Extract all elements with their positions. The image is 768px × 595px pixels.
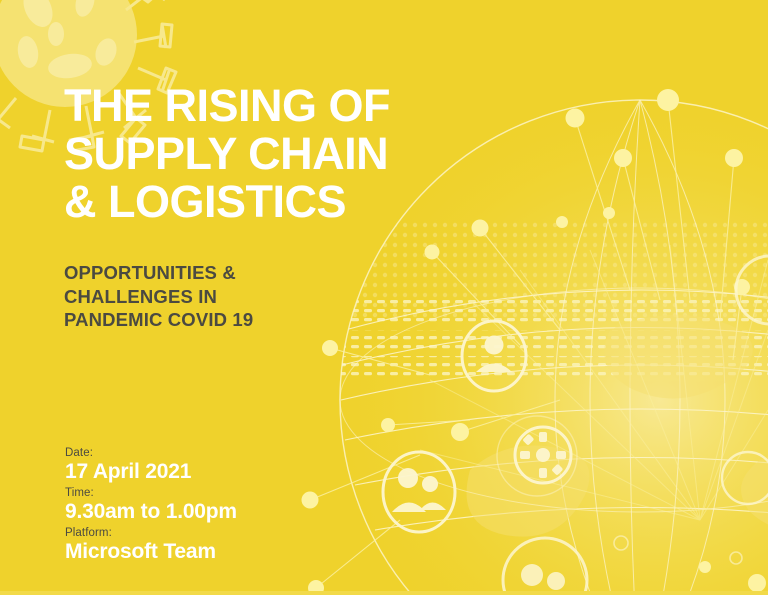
platform-label: Platform: — [65, 526, 237, 540]
badge-circle-right — [722, 256, 768, 504]
event-details: Date: 17 April 2021 Time: 9.30am to 1.00… — [65, 446, 237, 566]
platform-value: Microsoft Team — [65, 540, 237, 564]
people-circle-icon-2 — [503, 538, 587, 595]
time-value: 9.30am to 1.00pm — [65, 500, 237, 524]
detail-row-time: Time: 9.30am to 1.00pm — [65, 486, 237, 524]
date-label: Date: — [65, 446, 237, 460]
content-column: THE RISING OF SUPPLY CHAIN & LOGISTICS O… — [64, 0, 484, 595]
page-subtitle: OPPORTUNITIES & CHALLENGES IN PANDEMIC C… — [64, 261, 253, 332]
date-value: 17 April 2021 — [65, 460, 237, 484]
time-label: Time: — [65, 486, 237, 500]
poster-canvas: THE RISING OF SUPPLY CHAIN & LOGISTICS O… — [0, 0, 768, 595]
gear-circle-icon — [515, 427, 571, 483]
page-title: THE RISING OF SUPPLY CHAIN & LOGISTICS — [64, 82, 390, 226]
detail-row-platform: Platform: Microsoft Team — [65, 526, 237, 564]
gear-circle-icon-2 — [497, 416, 577, 496]
detail-row-date: Date: 17 April 2021 — [65, 446, 237, 484]
